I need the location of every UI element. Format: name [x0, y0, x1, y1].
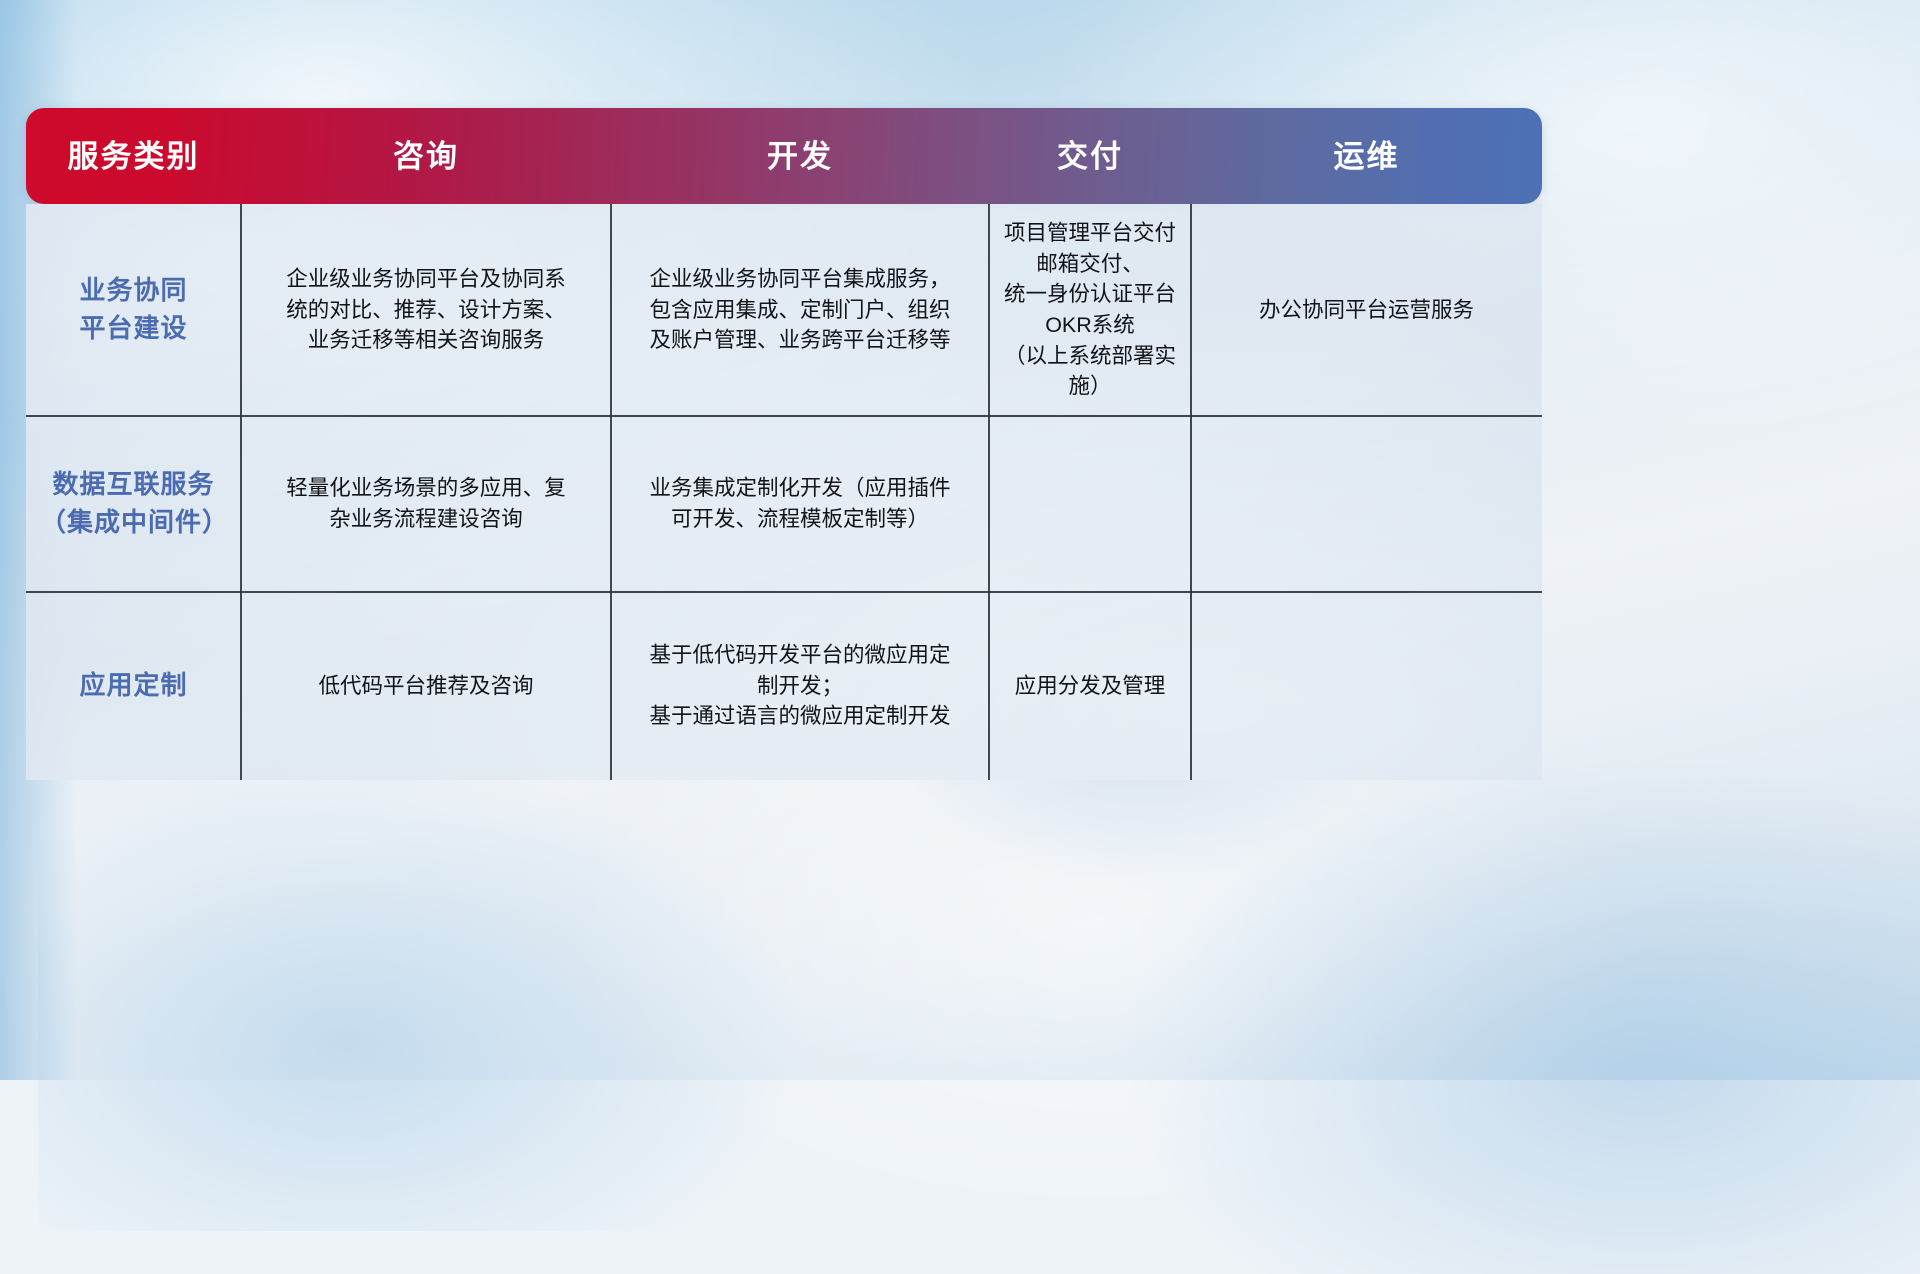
- table-grid: 业务协同平台建设企业级业务协同平台及协同系统的对比、推荐、设计方案、业务迁移等相…: [26, 204, 1542, 780]
- table-row: 数据互联服务（集成中间件）轻量化业务场景的多应用、复杂业务流程建设咨询业务集成定…: [26, 416, 1542, 592]
- text-line: 平台建设: [79, 310, 187, 348]
- text-line: 轻量化业务场景的多应用、复: [286, 473, 566, 504]
- text-line: 基于低代码开发平台的微应用定: [649, 640, 950, 671]
- cell-development-r2: 业务集成定制化开发（应用插件可开发、流程模板定制等）: [611, 416, 989, 592]
- text-line: 办公协同平台运营服务: [1259, 295, 1474, 326]
- text-line: 统的对比、推荐、设计方案、: [286, 295, 566, 326]
- text-line: OKR系统: [1003, 310, 1177, 341]
- text-line: 低代码平台推荐及咨询: [318, 671, 533, 702]
- text-line: 项目管理平台交付: [1003, 218, 1177, 249]
- cell-delivery-r1: 项目管理平台交付邮箱交付、统一身份认证平台OKR系统（以上系统部署实施）: [989, 204, 1191, 416]
- cell-delivery-r3: 应用分发及管理: [989, 592, 1191, 780]
- text-line: 应用定制: [79, 667, 187, 705]
- row-label-category-r2: 数据互联服务（集成中间件）: [26, 416, 241, 592]
- text-line: 业务集成定制化开发（应用插件: [649, 473, 950, 504]
- text-line: （以上系统部署实施）: [1003, 341, 1177, 402]
- text-line: 应用分发及管理: [1015, 671, 1166, 702]
- cell-development-r1: 企业级业务协同平台集成服务，包含应用集成、定制门户、组织及账户管理、业务跨平台迁…: [611, 204, 989, 416]
- table-row: 应用定制低代码平台推荐及咨询基于低代码开发平台的微应用定制开发；基于通过语言的微…: [26, 592, 1542, 780]
- row-label-category-r3: 应用定制: [26, 592, 241, 780]
- table-row: 业务协同平台建设企业级业务协同平台及协同系统的对比、推荐、设计方案、业务迁移等相…: [26, 204, 1542, 416]
- cell-operations-r1: 办公协同平台运营服务: [1191, 204, 1542, 416]
- column-header-category[interactable]: 服务类别: [26, 141, 241, 172]
- text-line: 及账户管理、业务跨平台迁移等: [649, 325, 950, 356]
- cell-development-r3: 基于低代码开发平台的微应用定制开发；基于通过语言的微应用定制开发: [611, 592, 989, 780]
- column-header-development[interactable]: 开发: [611, 141, 989, 172]
- column-header-delivery[interactable]: 交付: [989, 141, 1191, 172]
- text-line: 邮箱交付、: [1003, 249, 1177, 280]
- text-line: 业务协同: [79, 272, 187, 310]
- column-header-consulting[interactable]: 咨询: [241, 141, 611, 172]
- cell-operations-r3: [1191, 592, 1542, 780]
- cell-delivery-r2: [989, 416, 1191, 592]
- text-line: 基于通过语言的微应用定制开发: [649, 701, 950, 732]
- table-header-row: 服务类别咨询开发交付运维: [26, 108, 1542, 204]
- cell-consulting-r3: 低代码平台推荐及咨询: [241, 592, 611, 780]
- service-matrix-table: 服务类别咨询开发交付运维 业务协同平台建设企业级业务协同平台及协同系统的对比、推…: [26, 108, 1542, 780]
- text-line: 杂业务流程建设咨询: [286, 504, 566, 535]
- text-line: 企业级业务协同平台及协同系: [286, 264, 566, 295]
- background-glow-bottom-left: [38, 756, 806, 1231]
- text-line: 可开发、流程模板定制等）: [649, 504, 950, 535]
- table-body-panel: 业务协同平台建设企业级业务协同平台及协同系统的对比、推荐、设计方案、业务迁移等相…: [26, 204, 1542, 780]
- text-line: 数据互联服务: [40, 466, 227, 504]
- cell-consulting-r2: 轻量化业务场景的多应用、复杂业务流程建设咨询: [241, 416, 611, 592]
- text-line: 企业级业务协同平台集成服务，: [649, 264, 950, 295]
- cell-consulting-r1: 企业级业务协同平台及协同系统的对比、推荐、设计方案、业务迁移等相关咨询服务: [241, 204, 611, 416]
- text-line: 统一身份认证平台: [1003, 279, 1177, 310]
- cell-operations-r2: [1191, 416, 1542, 592]
- text-line: 制开发；: [649, 671, 950, 702]
- column-header-operations[interactable]: 运维: [1191, 141, 1542, 172]
- text-line: 包含应用集成、定制门户、组织: [649, 295, 950, 326]
- text-line: 业务迁移等相关咨询服务: [286, 325, 566, 356]
- text-line: （集成中间件）: [40, 504, 227, 542]
- row-label-category-r1: 业务协同平台建设: [26, 204, 241, 416]
